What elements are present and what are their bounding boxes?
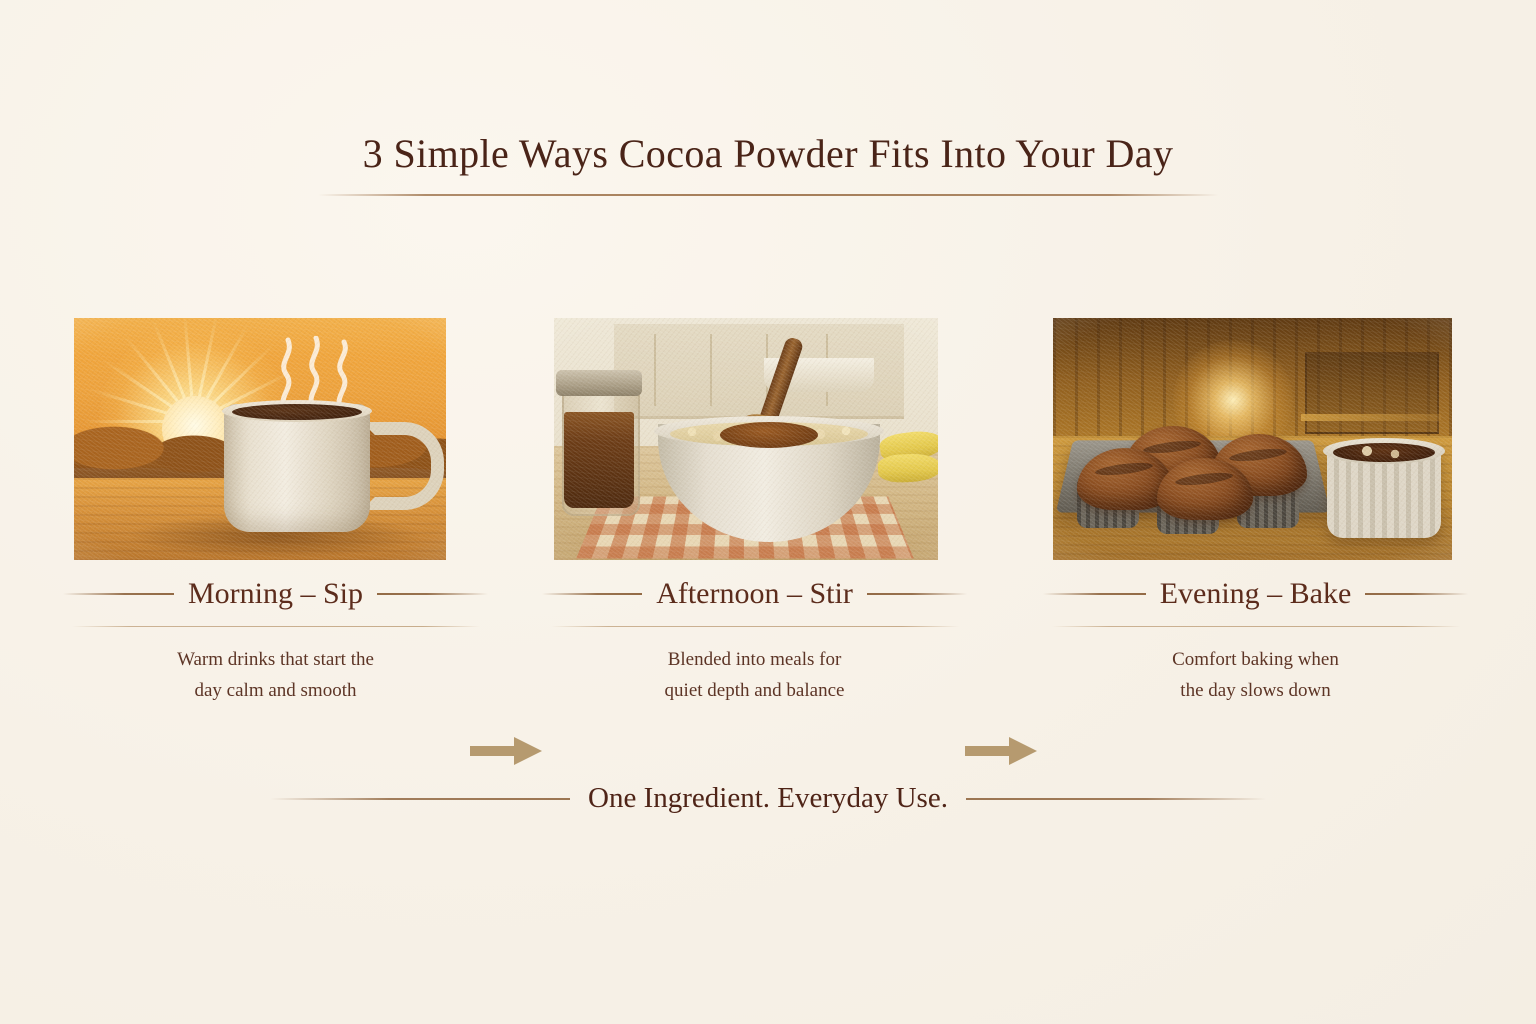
title-divider [318, 194, 1218, 196]
heading-rule-left [63, 593, 174, 595]
heading-underline [72, 626, 480, 627]
caption-line: Blended into meals for [542, 645, 967, 676]
sections-row: Morning – Sip Warm drinks that start the… [0, 572, 1536, 722]
caption-line: the day slows down [1043, 676, 1468, 707]
section-heading-afternoon: Afternoon – Stir [656, 579, 853, 609]
scene-sunrise-cocoa-mug [74, 318, 446, 560]
section-heading-row: Morning – Sip [63, 572, 488, 616]
section-heading-row: Afternoon – Stir [542, 572, 967, 616]
mug-body [224, 404, 370, 532]
heading-rule-right [867, 593, 967, 595]
section-evening-bake: Evening – Bake Comfort baking when the d… [1043, 572, 1468, 707]
infographic-canvas: 3 Simple Ways Cocoa Powder Fits Into You… [0, 0, 1536, 1024]
cocoa-powder-in-jar [564, 412, 634, 508]
caption-line: Comfort baking when [1043, 645, 1468, 676]
section-morning-sip: Morning – Sip Warm drinks that start the… [63, 572, 488, 707]
mug-handle [362, 422, 444, 510]
caption-line: Warm drinks that start the [63, 645, 488, 676]
caption-line: day calm and smooth [63, 676, 488, 707]
arrow-afternoon-to-evening [965, 734, 1037, 768]
section-heading-row: Evening – Bake [1043, 572, 1468, 616]
heading-rule-right [1365, 593, 1468, 595]
jar-lid [556, 370, 642, 396]
heading-underline [551, 626, 959, 627]
illustration-afternoon-stir [554, 318, 938, 560]
illustration-morning-sip [74, 318, 446, 560]
section-caption-evening: Comfort baking when the day slows down [1043, 645, 1468, 707]
heading-rule-left [1043, 593, 1146, 595]
section-heading-morning: Morning – Sip [188, 579, 363, 609]
footer-block: One Ingredient. Everyday Use. [0, 782, 1536, 815]
footer-tagline: One Ingredient. Everyday Use. [588, 782, 948, 815]
cocoa-surface [232, 404, 362, 420]
section-heading-evening: Evening – Bake [1160, 579, 1352, 609]
scene-muffin-tray [1053, 318, 1452, 560]
illustration-row [0, 318, 1536, 568]
background-shelf [1305, 352, 1439, 434]
footer-rule-right [966, 798, 1266, 800]
section-afternoon-stir: Afternoon – Stir Blended into meals for … [542, 572, 967, 707]
heading-rule-left [542, 593, 642, 595]
section-caption-morning: Warm drinks that start the day calm and … [63, 645, 488, 707]
bananas [878, 428, 938, 490]
heading-underline [1052, 626, 1460, 627]
illustration-evening-bake [1053, 318, 1452, 560]
page-title: 3 Simple Ways Cocoa Powder Fits Into You… [0, 132, 1536, 176]
melted-chocolate [1333, 443, 1435, 462]
shelf-edge [1301, 414, 1441, 421]
caption-line: quiet depth and balance [542, 676, 967, 707]
arrow-morning-to-afternoon [470, 734, 542, 768]
footer-rule-left [270, 798, 570, 800]
cocoa-powder-mound [720, 422, 818, 448]
title-block: 3 Simple Ways Cocoa Powder Fits Into You… [0, 132, 1536, 196]
scene-oatmeal-bowl [554, 318, 938, 560]
section-caption-afternoon: Blended into meals for quiet depth and b… [542, 645, 967, 707]
heading-rule-right [377, 593, 488, 595]
